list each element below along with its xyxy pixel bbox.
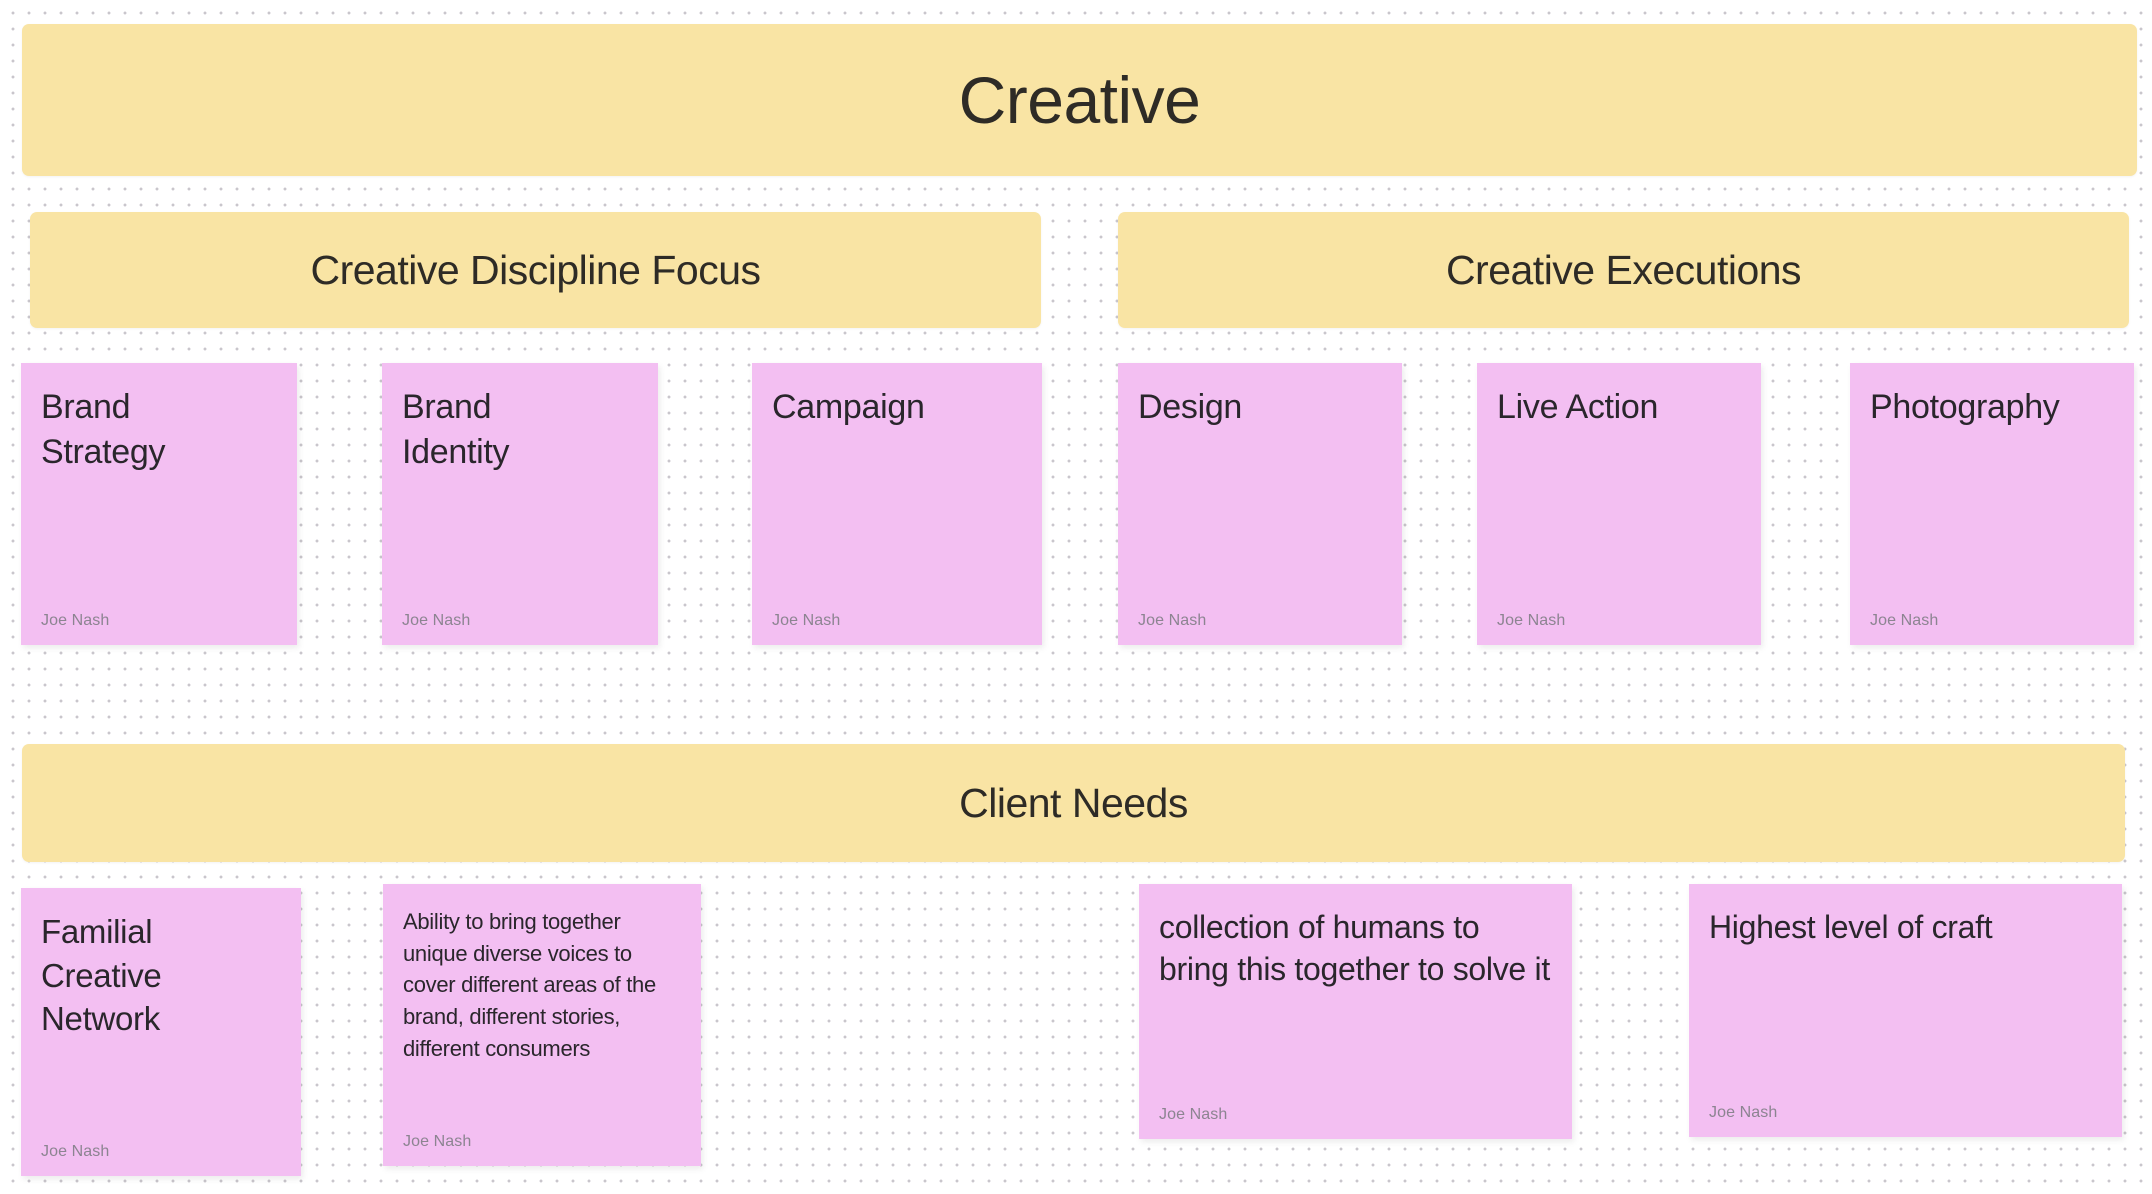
sticky-note-author: Joe Nash xyxy=(41,613,277,629)
header-creative[interactable]: Creative xyxy=(22,24,2137,176)
sticky-note-author: Joe Nash xyxy=(402,613,638,629)
sticky-note-campaign[interactable]: Campaign Joe Nash xyxy=(752,363,1042,645)
sticky-note-brand-identity[interactable]: Brand Identity Joe Nash xyxy=(382,363,658,645)
sticky-note-photography[interactable]: Photography Joe Nash xyxy=(1850,363,2134,645)
sticky-note-text: Highest level of craft xyxy=(1709,906,2102,948)
header-creative-discipline-focus[interactable]: Creative Discipline Focus xyxy=(30,212,1041,328)
header-client-needs[interactable]: Client Needs xyxy=(22,744,2125,862)
sticky-note-text: collection of humans to bring this toget… xyxy=(1159,906,1552,990)
sticky-note-author: Joe Nash xyxy=(1159,1107,1552,1123)
sticky-note-text: Brand Strategy xyxy=(41,385,277,475)
header-client-needs-label: Client Needs xyxy=(959,780,1188,827)
header-creative-discipline-focus-label: Creative Discipline Focus xyxy=(310,247,760,294)
sticky-note-live-action[interactable]: Live Action Joe Nash xyxy=(1477,363,1761,645)
sticky-note-collection-of-humans[interactable]: collection of humans to bring this toget… xyxy=(1139,884,1572,1139)
sticky-note-text: Familial Creative Network xyxy=(41,910,281,1041)
sticky-note-author: Joe Nash xyxy=(41,1144,281,1160)
sticky-note-author: Joe Nash xyxy=(1138,613,1382,629)
sticky-note-highest-level-of-craft[interactable]: Highest level of craft Joe Nash xyxy=(1689,884,2122,1137)
header-creative-executions-label: Creative Executions xyxy=(1446,247,1801,294)
sticky-note-author: Joe Nash xyxy=(1709,1105,2102,1121)
sticky-note-brand-strategy[interactable]: Brand Strategy Joe Nash xyxy=(21,363,297,645)
whiteboard-canvas[interactable]: Creative Creative Discipline Focus Creat… xyxy=(0,0,2152,1194)
sticky-note-author: Joe Nash xyxy=(772,613,1022,629)
sticky-note-familial-creative-network[interactable]: Familial Creative Network Joe Nash xyxy=(21,888,301,1176)
sticky-note-text: Brand Identity xyxy=(402,385,638,475)
sticky-note-ability-to-bring-together[interactable]: Ability to bring together unique diverse… xyxy=(383,884,701,1166)
sticky-note-author: Joe Nash xyxy=(1497,613,1741,629)
sticky-note-text: Campaign xyxy=(772,385,1022,430)
sticky-note-text: Ability to bring together unique diverse… xyxy=(403,906,681,1064)
sticky-note-author: Joe Nash xyxy=(403,1134,681,1150)
sticky-note-text: Live Action xyxy=(1497,385,1741,430)
sticky-note-text: Design xyxy=(1138,385,1382,430)
sticky-note-design[interactable]: Design Joe Nash xyxy=(1118,363,1402,645)
sticky-note-author: Joe Nash xyxy=(1870,613,2114,629)
header-creative-label: Creative xyxy=(959,62,1201,138)
header-creative-executions[interactable]: Creative Executions xyxy=(1118,212,2129,328)
sticky-note-text: Photography xyxy=(1870,385,2114,430)
